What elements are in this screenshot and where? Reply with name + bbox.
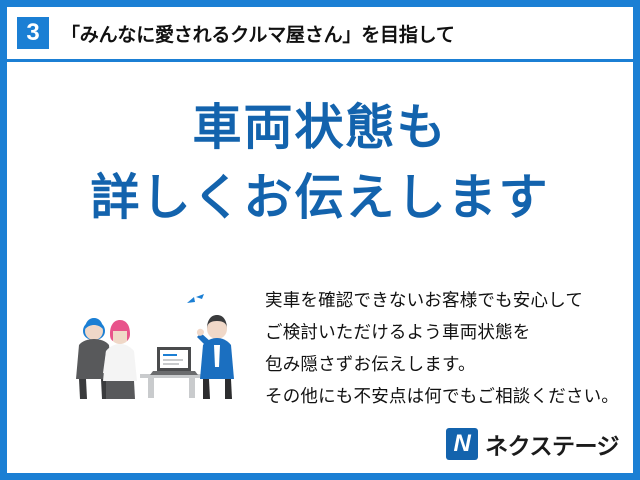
body-copy-line-3: 包み隠さずお伝えします。 <box>265 349 625 381</box>
body-copy-line-1: 実車を確認できないお客様でも安心して <box>265 285 625 317</box>
customer-female-figure <box>103 320 137 399</box>
staff-explaining-to-customers-illustration <box>65 279 255 399</box>
laptop-on-desk-icon <box>140 347 202 398</box>
body-copy: 実車を確認できないお客様でも安心して ご検討いただけるよう車両状態を 包み隠さず… <box>265 285 625 412</box>
page-title: 「みんなに愛されるクルマ屋さん」を目指して <box>61 20 455 47</box>
logo-mark-letter: N <box>446 428 478 460</box>
body-copy-line-2: ご検討いただけるよう車両状態を <box>265 317 625 349</box>
body-copy-line-4: その他にも不安点は何でもご相談ください。 <box>265 381 625 413</box>
headline: 車両状態も 詳しくお伝えします <box>7 99 633 229</box>
header: 3 「みんなに愛されるクルマ屋さん」を目指して <box>7 7 633 59</box>
header-divider <box>7 59 633 62</box>
brand-logo: N ネクステージ <box>446 427 619 461</box>
header-step-number: 3 <box>17 17 49 49</box>
flyer-page: 3 「みんなに愛されるクルマ屋さん」を目指して 車両状態も 詳しくお伝えします <box>0 0 640 480</box>
headline-line-1: 車両状態も <box>7 99 633 159</box>
staff-member-figure <box>197 315 234 399</box>
headline-line-2: 詳しくお伝えします <box>7 169 633 229</box>
brand-name: ネクステージ <box>485 427 619 461</box>
speech-marks-icon <box>187 294 204 303</box>
nextage-n-logo-icon: N <box>446 428 478 460</box>
flyer-inner: 3 「みんなに愛されるクルマ屋さん」を目指して 車両状態も 詳しくお伝えします <box>7 7 633 473</box>
